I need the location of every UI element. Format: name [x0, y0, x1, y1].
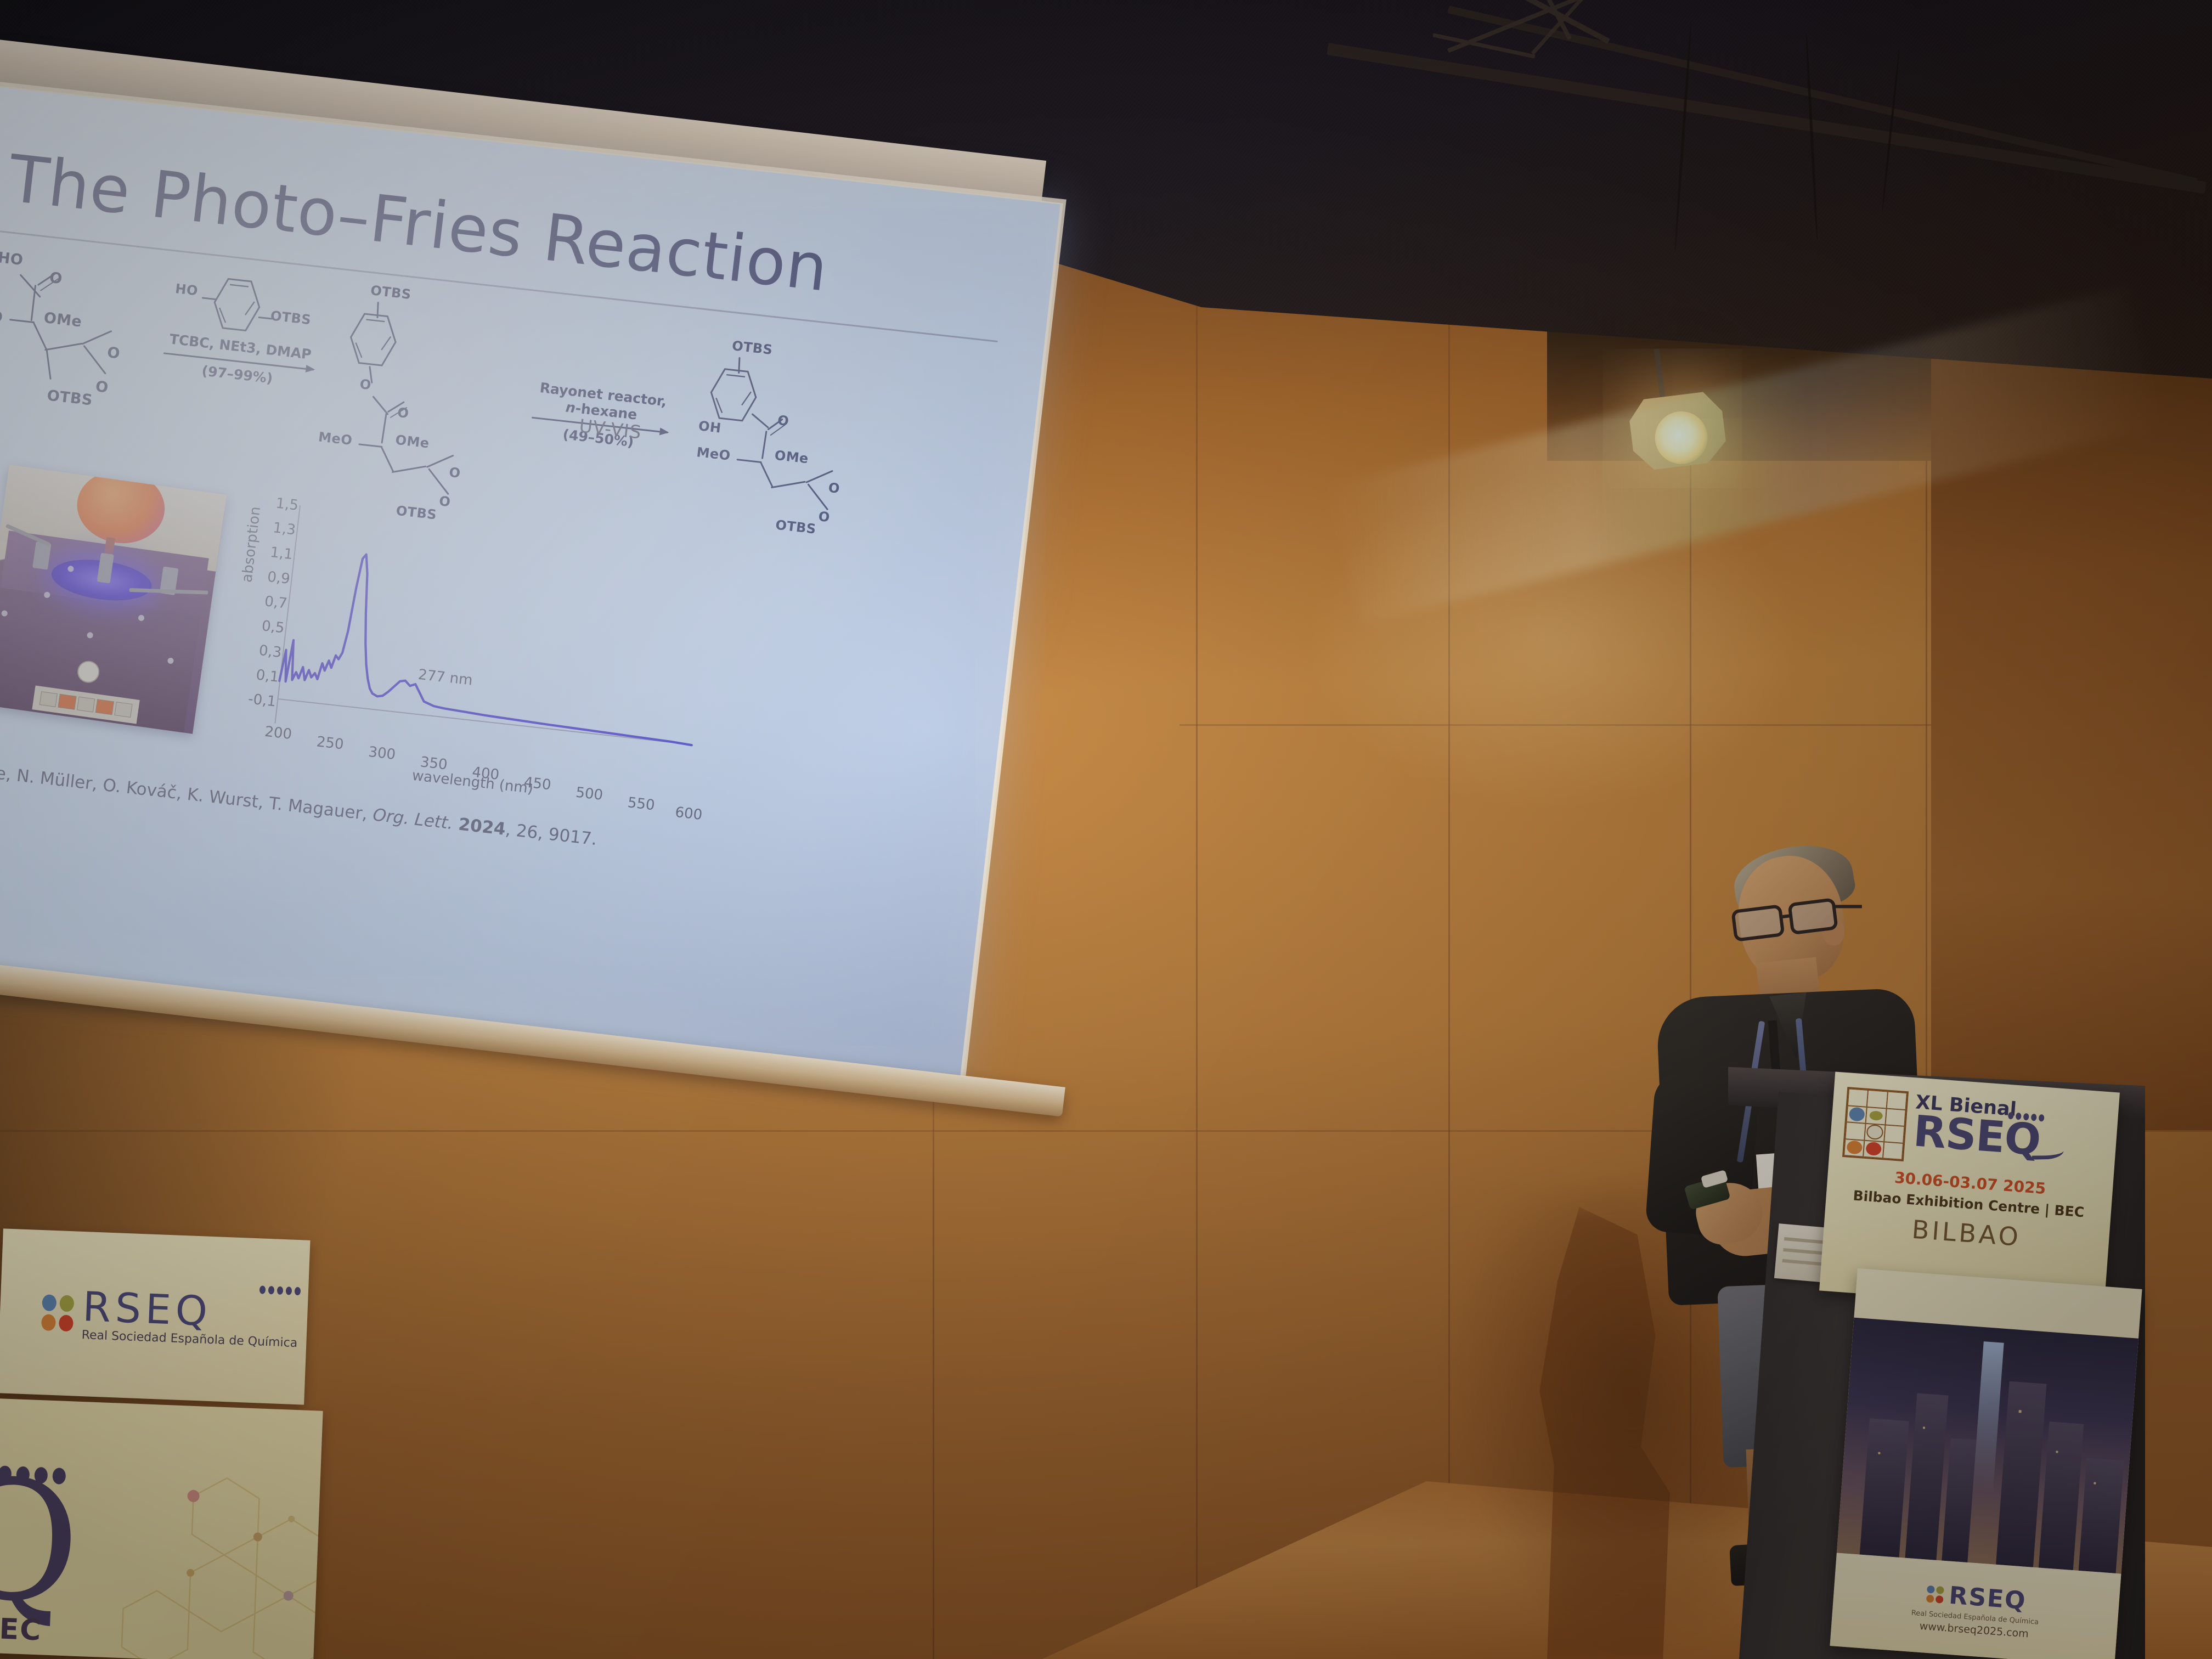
uvvis-spectrum-curve	[274, 505, 714, 769]
left-banner-rseq: RSEQ Real Sociedad Española de Química	[0, 1228, 311, 1404]
citation-year: 2024	[458, 815, 507, 839]
arrow-1-yield: (97–99%)	[155, 357, 320, 391]
plot-axes	[274, 505, 714, 769]
rseq-dots-icon-banner	[259, 1285, 301, 1295]
stage-spotlight-icon	[1621, 377, 1759, 501]
rayonet-reactor-photo	[0, 465, 227, 734]
structure-starting-material: HO O OMe MeO O O OTBS	[0, 250, 166, 444]
rseq-q-tail-icon	[2032, 1145, 2063, 1160]
citation-volume-page: , 26, 9017.	[504, 820, 598, 849]
banner-venue-code: BEC	[0, 1612, 42, 1647]
rseq-stained-glass-logo-icon	[1842, 1087, 1909, 1161]
podium-poster: RSEQ Real Sociedad Española de Química w…	[1830, 1268, 2142, 1659]
rseq-marks-icon-banner	[41, 1294, 74, 1331]
bilbao-city-photo	[1837, 1318, 2138, 1574]
projection-screen: The Photo–Fries Reaction HO O OMe MeO	[0, 82, 1063, 1075]
structure-aryl-ester: OTBS O O OMe MeO	[318, 284, 526, 500]
presentation-slide: The Photo–Fries Reaction HO O OMe MeO	[0, 82, 1063, 1075]
poster-org: RSEQ	[1948, 1582, 2027, 1615]
left-banner-bec: Q BEC	[0, 1398, 323, 1659]
conference-photo-scene: The Photo–Fries Reaction HO O OMe MeO	[0, 0, 2212, 1659]
citation-journal: Org. Lett.	[372, 805, 454, 833]
uvvis-plot: absorption 1,5 1,3 1,1 0,9 0,7 0,5 0,3 0…	[227, 500, 714, 807]
banner-org: RSEQ	[82, 1286, 299, 1335]
ceiling-rigging-cluster	[1432, 0, 1717, 126]
structure-photo-fries-product: OTBS OH O OMe MeO	[676, 343, 884, 560]
right-wall-column	[1931, 329, 2212, 1130]
rseq-marks-icon	[1926, 1585, 1944, 1604]
citation-authors: A. Rode, N. Müller, O. Kováč, K. Wurst, …	[0, 758, 369, 825]
banner-letter-q: Q	[0, 1457, 83, 1627]
sign-org: RSEQ	[1912, 1112, 2041, 1161]
reaction-arrow-2: Rayonet reactor, n-hexane (49–50%)	[524, 379, 678, 454]
hexagon-molecule-pattern	[104, 1460, 323, 1659]
